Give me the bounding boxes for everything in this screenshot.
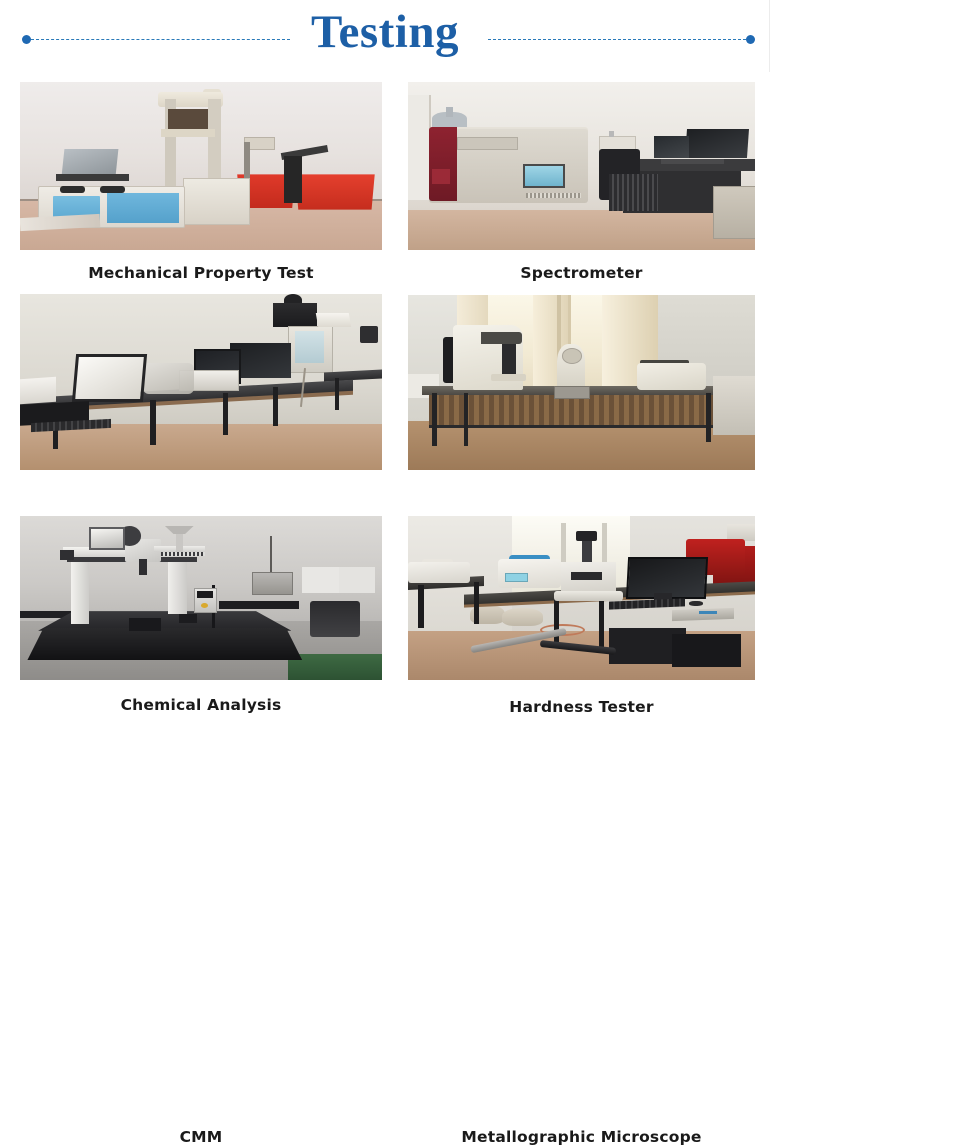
spectrometer-red-panel	[429, 127, 457, 201]
bench-leg	[273, 387, 278, 426]
gallery-item-hardness-tester[interactable]: Hardness Tester	[408, 295, 755, 470]
cmm-display-screen	[89, 527, 126, 549]
office-chair-seat	[609, 174, 658, 211]
under-bench-cabinet	[672, 634, 741, 667]
cmm-bridge-column-left	[71, 555, 89, 624]
photo-chemical-analysis	[20, 294, 382, 470]
sink-faucet	[609, 131, 614, 138]
control-panel-button	[201, 603, 208, 608]
bench-leg	[464, 393, 469, 446]
bench-leg	[706, 393, 711, 442]
photo-hardness-tester	[408, 295, 755, 470]
ceiling-lamp-body	[176, 534, 183, 552]
gallery-item-spectrometer[interactable]: Spectrometer	[408, 82, 755, 250]
fume-hood-stem	[446, 107, 453, 117]
red-equipment-right	[295, 174, 375, 209]
lab-floor	[408, 421, 755, 470]
console-blue-panel-right	[107, 193, 179, 223]
impact-test-rig	[284, 156, 302, 203]
fixture-block	[179, 614, 197, 622]
polisher-display	[505, 573, 528, 582]
spectrometer-brand-label	[432, 169, 449, 184]
bench-foot-rail	[429, 425, 720, 429]
control-panel-display	[197, 591, 213, 598]
gallery-item-cmm[interactable]: CMM	[20, 516, 382, 680]
testing-gallery-grid: Mechanical Property Test	[0, 72, 958, 720]
spectrometer-vent-grille	[526, 193, 582, 198]
bench-leg	[554, 598, 560, 647]
caption-hardness-tester: Hardness Tester	[408, 698, 755, 716]
caption-cmm: CMM	[20, 1128, 382, 1146]
page-title: Testing	[0, 4, 770, 60]
page-header: Testing	[0, 0, 770, 72]
plastic-covered-instrument	[143, 363, 194, 395]
wall-control-box	[252, 572, 294, 595]
tester-upper-arm	[481, 332, 523, 344]
left-instrument-body	[408, 562, 470, 583]
bench-leg	[418, 585, 424, 628]
microscope-objective-turret	[571, 572, 602, 580]
desk-monitor-secondary	[654, 136, 689, 158]
beam-end-cap	[60, 550, 74, 560]
side-work-table	[219, 601, 299, 609]
caption-spectrometer: Spectrometer	[408, 264, 755, 282]
bench-paper-stack	[20, 377, 56, 404]
lab-floor	[20, 424, 382, 470]
support-post	[244, 142, 249, 179]
waste-container	[360, 326, 378, 344]
granite-table-base	[27, 628, 302, 661]
monitor-front	[72, 354, 147, 402]
desk-monitor-primary	[685, 129, 749, 158]
cmm-scale-strip	[161, 552, 204, 556]
bench-leg	[150, 400, 155, 446]
console-control-knob-right	[100, 186, 125, 193]
microscope-camera-tube	[582, 537, 592, 563]
lab-floor	[408, 210, 755, 250]
bench-leg	[335, 378, 339, 410]
bench-leg	[223, 393, 228, 435]
bench-leg	[474, 582, 479, 625]
bench-leg	[432, 393, 437, 446]
photo-metallographic-microscope	[408, 516, 755, 680]
overhead-light-panel	[316, 313, 351, 327]
gallery-item-chemical-analysis[interactable]: Chemical Analysis	[20, 294, 382, 470]
caption-mechanical-property-test: Mechanical Property Test	[20, 264, 382, 282]
room-door-frame	[408, 95, 431, 199]
spectrometer-sample-port	[457, 137, 518, 149]
hydraulic-power-cabinet	[183, 178, 250, 225]
desk-keyboard	[661, 159, 723, 164]
tester-specimen-stage	[491, 374, 526, 381]
gallery-item-mechanical-property-test[interactable]: Mechanical Property Test	[20, 82, 382, 250]
console-keyboard	[56, 174, 128, 181]
covered-equipment	[502, 608, 544, 626]
console-control-knob-left	[60, 186, 85, 193]
microscope-base	[554, 591, 623, 601]
photo-spectrometer	[408, 82, 755, 250]
bench-leg	[599, 601, 605, 650]
wall-drawing-sheet	[339, 567, 375, 593]
fume-hood-canopy	[273, 303, 316, 328]
caption-metallographic-microscope: Metallographic Microscope	[408, 1128, 755, 1146]
console-monitor	[62, 149, 119, 176]
wall-drawing-sheet	[302, 567, 338, 593]
tester-hydraulic-ram	[168, 109, 208, 129]
right-side-cabinet	[713, 376, 755, 436]
cmm-probe-head	[139, 559, 146, 575]
tester-anvil-stem	[568, 362, 575, 381]
argon-gas-cabinet	[713, 186, 755, 238]
wall-dark-band	[20, 611, 71, 618]
microscope-camera	[576, 531, 597, 541]
tester-platen	[161, 129, 215, 137]
photo-mechanical-property-test	[20, 82, 382, 250]
green-epoxy-floor-area	[288, 654, 382, 680]
caption-chemical-analysis: Chemical Analysis	[20, 696, 382, 714]
ceiling-power-cord	[270, 536, 273, 572]
analyzer-glass-window	[295, 331, 324, 363]
bench-under-panel	[429, 395, 720, 425]
cmm-bridge-column-right	[168, 555, 186, 614]
computer-mouse	[689, 601, 703, 606]
gallery-item-metallographic-microscope[interactable]: Metallographic Microscope	[408, 516, 755, 680]
spectrometer-lcd-display	[523, 164, 565, 188]
calibration-block	[129, 618, 162, 631]
tray-blue-item	[699, 611, 716, 614]
microhardness-tester	[637, 363, 706, 389]
stacked-chairs	[310, 601, 361, 637]
tester-indenter-column	[502, 344, 516, 374]
tester-base-block	[554, 386, 591, 399]
photo-cmm	[20, 516, 382, 680]
